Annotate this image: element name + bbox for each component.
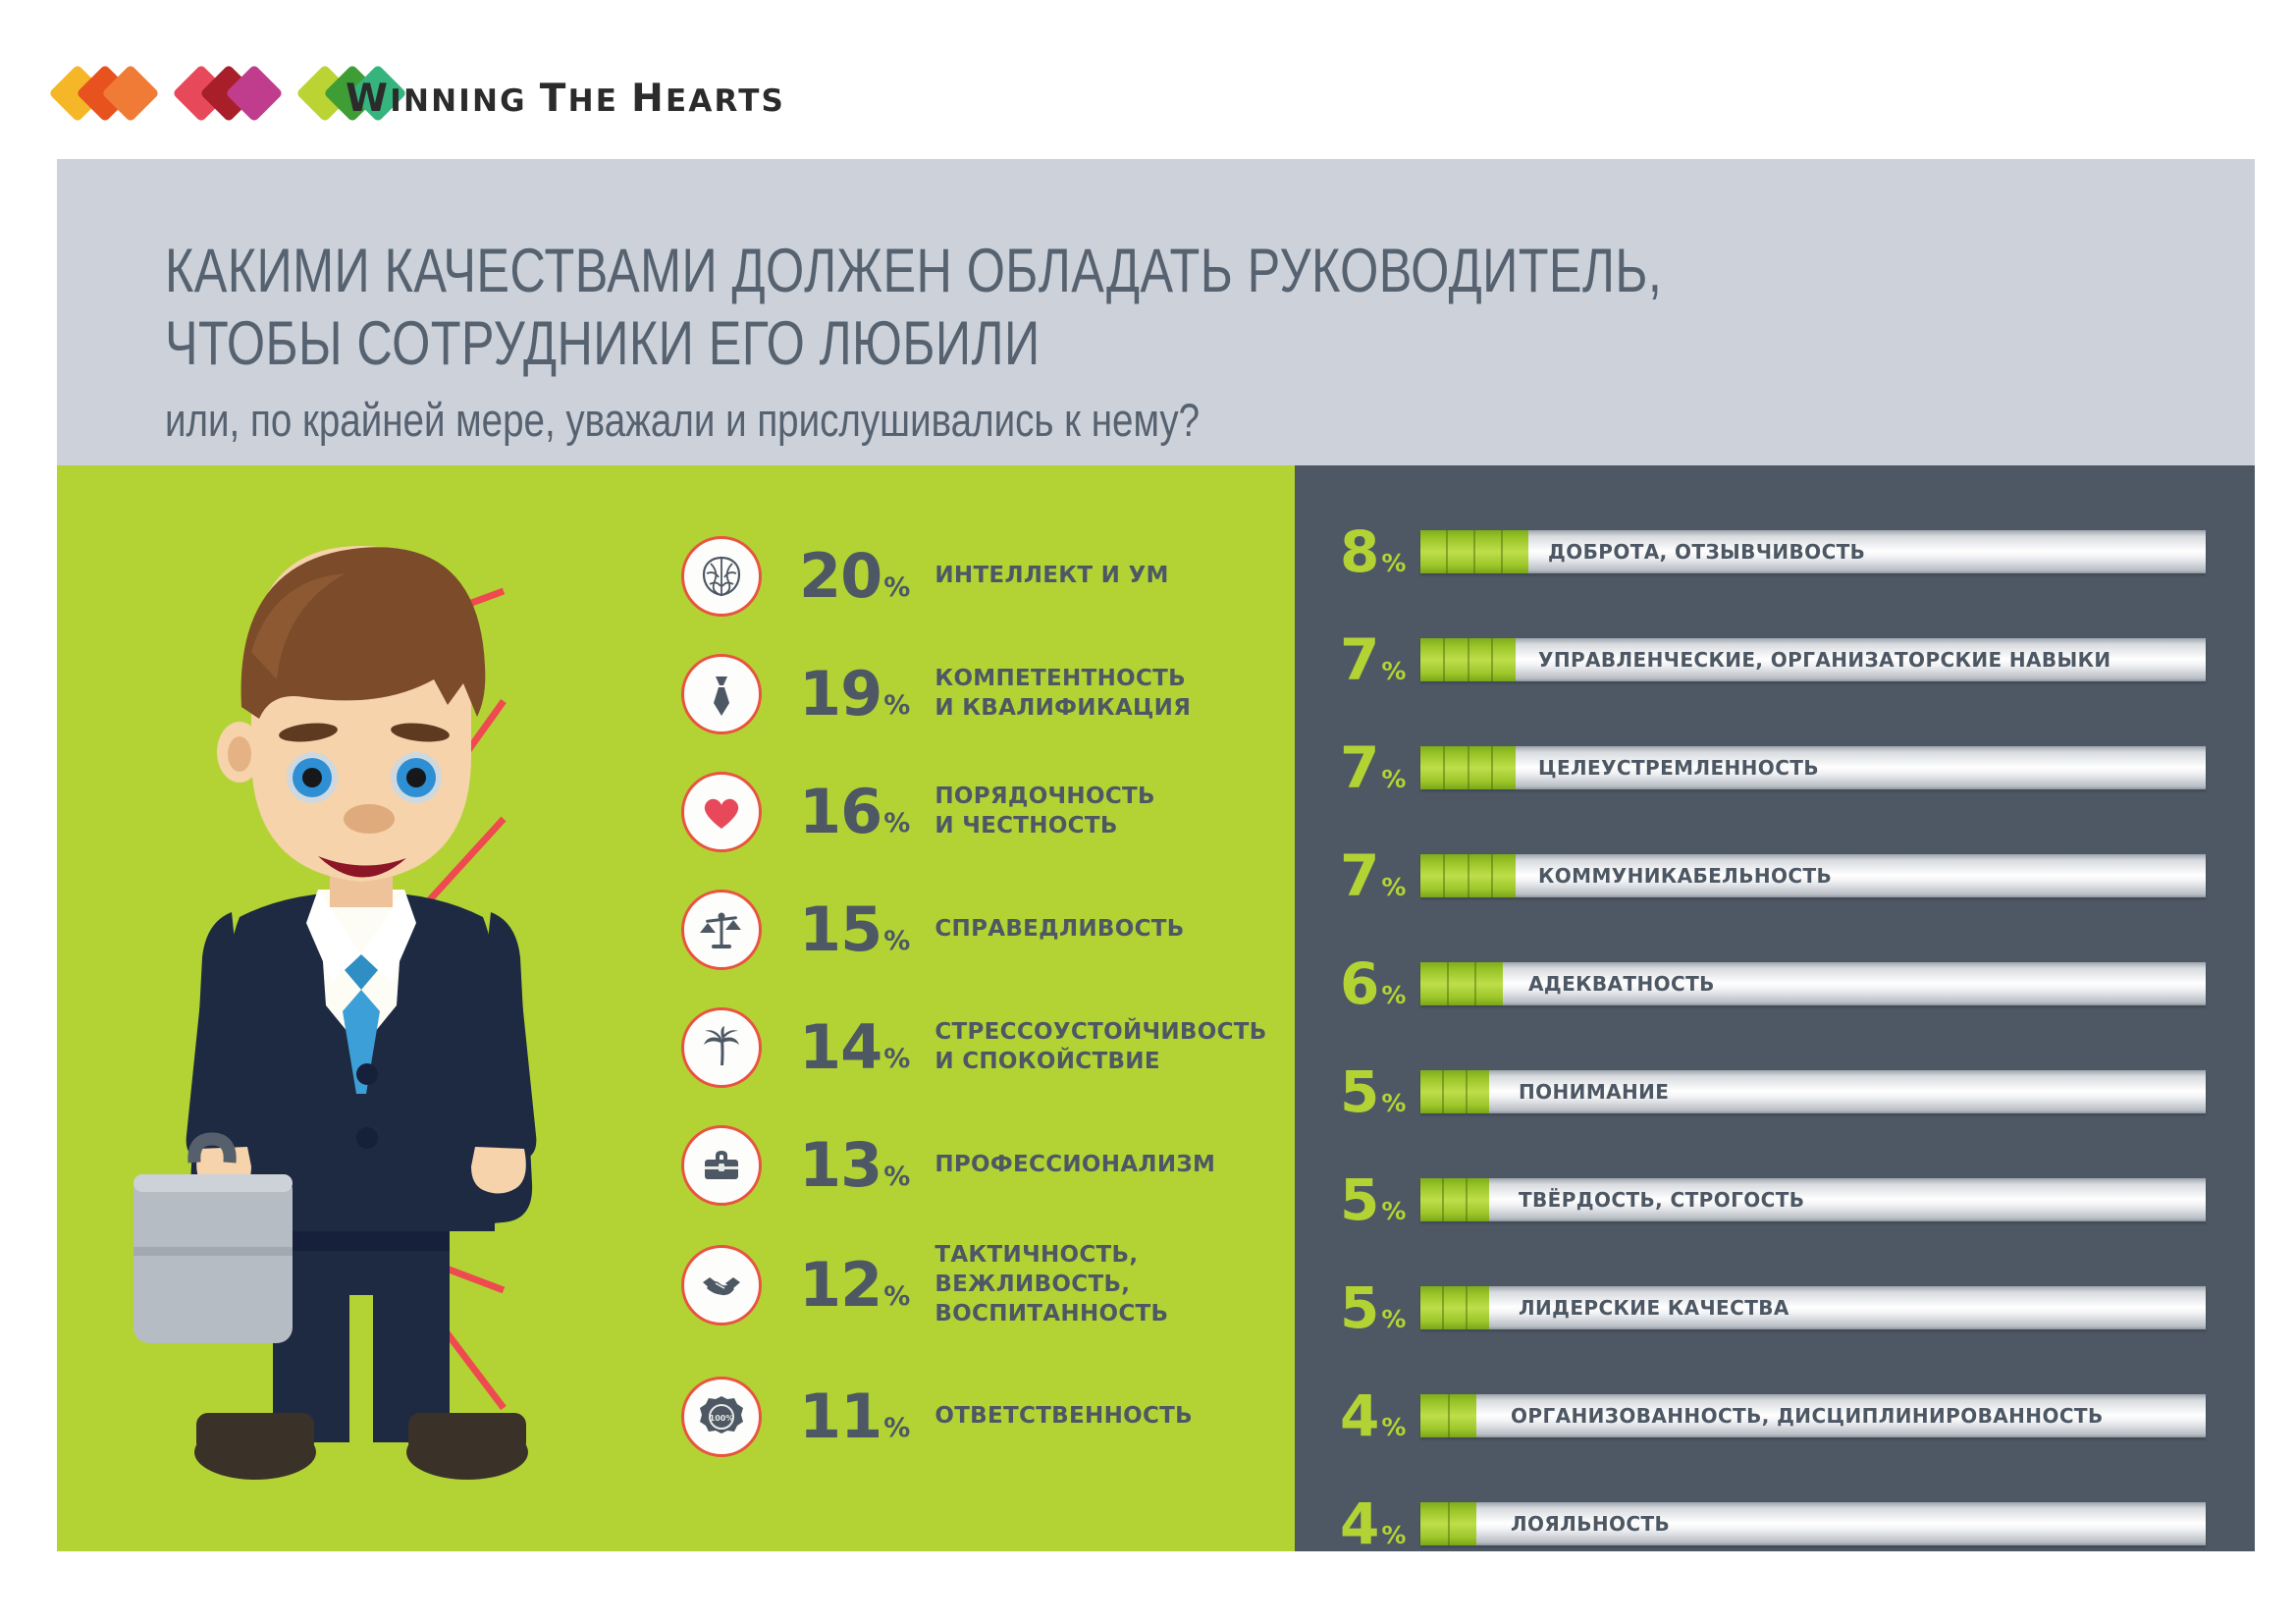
scales-icon (681, 890, 762, 970)
list-item-label: ИНТЕЛЛЕКТ И УМ (934, 562, 1168, 591)
bar-label: ЛОЯЛЬНОСТЬ (1511, 1512, 1670, 1536)
list-item-label: ПОРЯДОЧНОСТЬ И ЧЕСТНОСТЬ (934, 783, 1155, 841)
bar-row[interactable]: 7% КОММУНИКАБЕЛЬНОСТЬ (1340, 846, 2206, 905)
bar-percent: 5% (1340, 1279, 1420, 1336)
percent-value: 16% (799, 782, 909, 842)
heart-icon (681, 772, 762, 852)
list-item[interactable]: 100% 11% ОТВЕТСТВЕННОСТЬ (681, 1377, 1193, 1457)
bar-percent: 4% (1340, 1495, 1420, 1551)
bar-fill (1420, 1286, 1489, 1329)
list-item[interactable]: 16% ПОРЯДОЧНОСТЬ И ЧЕСТНОСТЬ (681, 772, 1155, 852)
bar-fill (1420, 1394, 1476, 1437)
dark-panel: 8% ДОБРОТА, ОТЗЫВЧИВОСТЬ 7% УПРАВЛЕНЧЕСК… (1295, 465, 2255, 1551)
percent-value: 12% (799, 1255, 909, 1316)
green-panel: 20% ИНТЕЛЛЕКТ И УМ 19% КОМПЕТЕНТНОСТЬ И … (57, 465, 1295, 1551)
businessman-illustration (126, 524, 597, 1516)
palm-tree-icon (681, 1007, 762, 1088)
list-item-label: ПРОФЕССИОНАЛИЗМ (934, 1151, 1215, 1180)
page-title-line-1: КАКИМИ КАЧЕСТВАМИ ДОЛЖЕН ОБЛАДАТЬ РУКОВО… (165, 236, 1662, 306)
list-item[interactable]: 15% СПРАВЕДЛИВОСТЬ (681, 890, 1185, 970)
bar-label: КОММУНИКАБЕЛЬНОСТЬ (1538, 864, 1832, 888)
bar-row[interactable]: 6% АДЕКВАТНОСТЬ (1340, 954, 2206, 1013)
briefcase-icon (681, 1125, 762, 1206)
bar-row[interactable]: 5% ТВЁРДОСТЬ, СТРОГОСТЬ (1340, 1170, 2206, 1229)
bar-fill (1420, 1178, 1489, 1221)
list-item[interactable]: 14% СТРЕССОУСТОЙЧИВОСТЬ И СПОКОЙСТВИЕ (681, 1007, 1267, 1088)
bar-label: ПОНИМАНИЕ (1519, 1080, 1669, 1104)
progress-bar: ТВЁРДОСТЬ, СТРОГОСТЬ (1420, 1178, 2206, 1221)
bar-fill (1420, 854, 1516, 897)
progress-bar: ЛОЯЛЬНОСТЬ (1420, 1502, 2206, 1545)
bar-row[interactable]: 8% ДОБРОТА, ОТЗЫВЧИВОСТЬ (1340, 522, 2206, 581)
handshake-icon (681, 1245, 762, 1326)
progress-bar: ЛИДЕРСКИЕ КАЧЕСТВА (1420, 1286, 2206, 1329)
bar-label: ОРГАНИЗОВАННОСТЬ, ДИСЦИПЛИНИРОВАННОСТЬ (1511, 1404, 2104, 1428)
bar-row[interactable]: 7% УПРАВЛЕНЧЕСКИЕ, ОРГАНИЗАТОРСКИЕ НАВЫК… (1340, 630, 2206, 689)
progress-bar: ПОНИМАНИЕ (1420, 1070, 2206, 1113)
bar-percent: 4% (1340, 1387, 1420, 1444)
progress-bar: КОММУНИКАБЕЛЬНОСТЬ (1420, 854, 2206, 897)
percent-value: 19% (799, 664, 909, 725)
logo-bar: WINNING THE HEARTS (0, 0, 2296, 149)
list-item-label: ОТВЕТСТВЕННОСТЬ (934, 1402, 1193, 1432)
bar-row[interactable]: 5% ЛИДЕРСКИЕ КАЧЕСТВА (1340, 1278, 2206, 1337)
quality-badge-icon: 100% (681, 1377, 762, 1457)
list-item[interactable]: 19% КОМПЕТЕНТНОСТЬ И КВАЛИФИКАЦИЯ (681, 654, 1191, 734)
percent-value: 11% (799, 1386, 909, 1447)
list-item[interactable]: 20% ИНТЕЛЛЕКТ И УМ (681, 536, 1169, 617)
badge-text: 100% (710, 1414, 734, 1423)
bar-percent: 7% (1340, 739, 1420, 796)
list-item[interactable]: 12% ТАКТИЧНОСТЬ, ВЕЖЛИВОСТЬ, ВОСПИТАННОС… (681, 1241, 1168, 1329)
bar-label: УПРАВЛЕНЧЕСКИЕ, ОРГАНИЗАТОРСКИЕ НАВЫКИ (1538, 648, 2111, 672)
bar-fill (1420, 1502, 1476, 1545)
progress-bar: ЦЕЛЕУСТРЕМЛЕННОСТЬ (1420, 746, 2206, 789)
progress-bar: ДОБРОТА, ОТЗЫВЧИВОСТЬ (1420, 530, 2206, 573)
list-item[interactable]: 13% ПРОФЕССИОНАЛИЗМ (681, 1125, 1215, 1206)
progress-bar: УПРАВЛЕНЧЕСКИЕ, ОРГАНИЗАТОРСКИЕ НАВЫКИ (1420, 638, 2206, 681)
bar-row[interactable]: 7% ЦЕЛЕУСТРЕМЛЕННОСТЬ (1340, 738, 2206, 797)
bar-label: ЛИДЕРСКИЕ КАЧЕСТВА (1519, 1296, 1789, 1320)
necktie-icon (681, 654, 762, 734)
bar-row[interactable]: 5% ПОНИМАНИЕ (1340, 1062, 2206, 1121)
bar-label: ТВЁРДОСТЬ, СТРОГОСТЬ (1519, 1188, 1804, 1212)
percent-value: 15% (799, 899, 909, 960)
bar-label: ДОБРОТА, ОТЗЫВЧИВОСТЬ (1548, 540, 1865, 564)
list-item-label: СТРЕССОУСТОЙЧИВОСТЬ И СПОКОЙСТВИЕ (934, 1018, 1266, 1077)
bar-fill (1420, 530, 1528, 573)
brain-icon (681, 536, 762, 617)
page-title-line-2: ЧТОБЫ СОТРУДНИКИ ЕГО ЛЮБИЛИ (165, 308, 1041, 379)
bar-fill (1420, 1070, 1489, 1113)
list-item-label: КОМПЕТЕНТНОСТЬ И КВАЛИФИКАЦИЯ (934, 665, 1191, 724)
bar-percent: 5% (1340, 1171, 1420, 1228)
bar-percent: 6% (1340, 955, 1420, 1012)
title-band: КАКИМИ КАЧЕСТВАМИ ДОЛЖЕН ОБЛАДАТЬ РУКОВО… (57, 159, 2255, 465)
percent-value: 14% (799, 1017, 909, 1078)
bar-fill (1420, 962, 1503, 1005)
list-item-label: ТАКТИЧНОСТЬ, ВЕЖЛИВОСТЬ, ВОСПИТАННОСТЬ (934, 1241, 1168, 1329)
bar-percent: 8% (1340, 523, 1420, 580)
heart-orange-icon (57, 71, 151, 120)
bar-fill (1420, 638, 1516, 681)
bar-percent: 5% (1340, 1063, 1420, 1120)
bar-label: АДЕКВАТНОСТЬ (1528, 972, 1715, 996)
percent-value: 13% (799, 1135, 909, 1196)
bar-row[interactable]: 4% ЛОЯЛЬНОСТЬ (1340, 1494, 2206, 1551)
list-item-label: СПРАВЕДЛИВОСТЬ (934, 915, 1184, 945)
percent-value: 20% (799, 546, 909, 607)
bar-row[interactable]: 4% ОРГАНИЗОВАННОСТЬ, ДИСЦИПЛИНИРОВАННОСТ… (1340, 1386, 2206, 1445)
brand-name: WINNING THE HEARTS (346, 77, 785, 121)
bar-fill (1420, 746, 1516, 789)
heart-red-icon (181, 71, 275, 120)
page-subtitle: или, по крайней мере, уважали и прислуши… (165, 393, 1200, 447)
bar-percent: 7% (1340, 631, 1420, 688)
bar-label: ЦЕЛЕУСТРЕМЛЕННОСТЬ (1538, 756, 1819, 780)
bar-percent: 7% (1340, 847, 1420, 904)
progress-bar: ОРГАНИЗОВАННОСТЬ, ДИСЦИПЛИНИРОВАННОСТЬ (1420, 1394, 2206, 1437)
progress-bar: АДЕКВАТНОСТЬ (1420, 962, 2206, 1005)
